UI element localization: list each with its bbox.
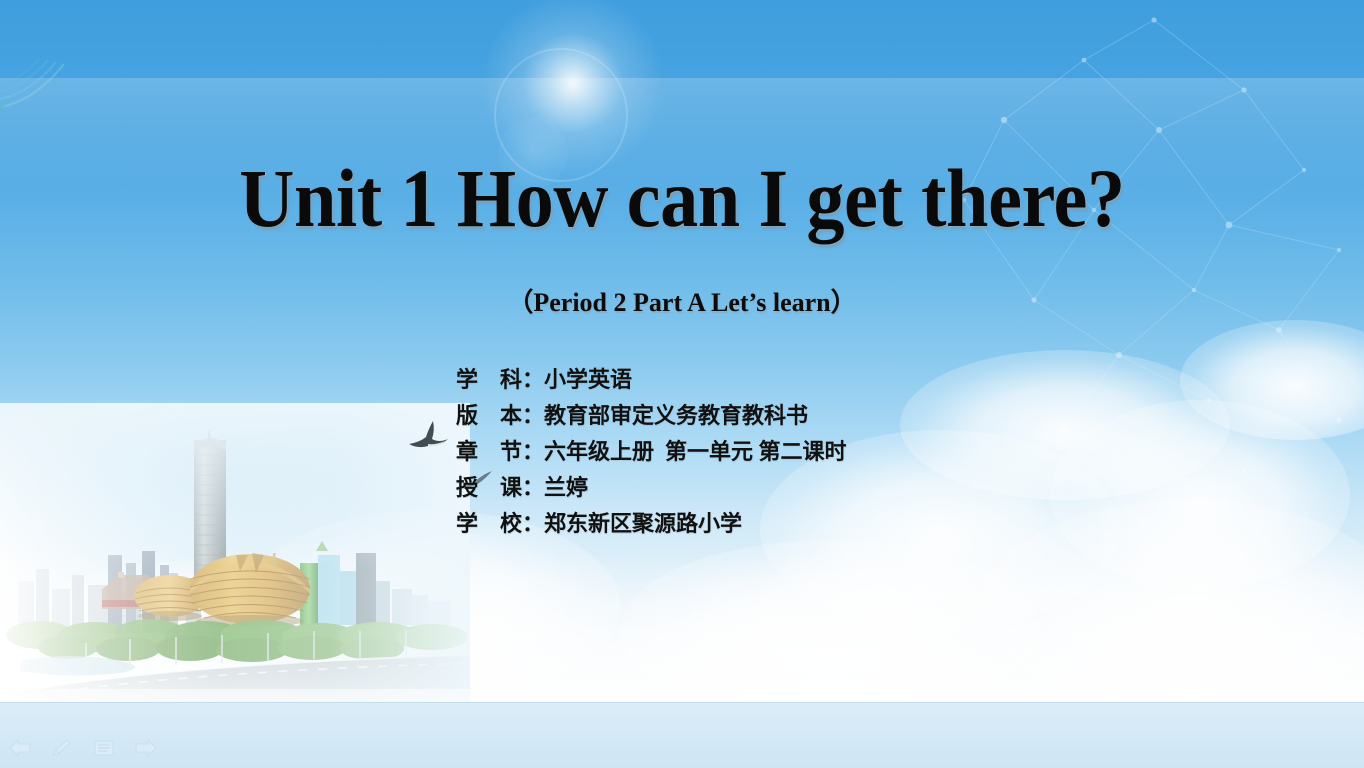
info-row-edition: 版 本：教育部审定义务教育教科书: [456, 398, 1016, 434]
page-title: Unit 1 How can I get there?: [55, 152, 1310, 244]
player-toolbar: [0, 702, 1364, 768]
info-row-chapter: 章 节：六年级上册 第一单元 第二课时: [456, 434, 1016, 470]
toolbar-icon-group: [6, 736, 160, 760]
lesson-info-block: 学 科：小学英语 版 本：教育部审定义务教育教科书 章 节：六年级上册 第一单元…: [456, 362, 1016, 542]
previous-slide-button[interactable]: [6, 736, 34, 760]
next-slide-button[interactable]: [132, 736, 160, 760]
info-row-subject: 学 科：小学英语: [456, 362, 1016, 398]
arrow-right-icon: [134, 738, 158, 758]
menu-icon: [92, 738, 116, 758]
seagull-icon: [404, 418, 452, 458]
menu-button[interactable]: [90, 736, 118, 760]
cityscape-illustration: [0, 403, 470, 703]
arrow-left-icon: [8, 738, 32, 758]
info-row-teacher: 授 课：兰婷: [456, 470, 1016, 506]
slide-canvas[interactable]: Unit 1 How can I get there? （Period 2 Pa…: [0, 0, 1364, 703]
page-subtitle: （Period 2 Part A Let’s learn）: [0, 286, 1364, 320]
corner-arc-decoration: [0, 42, 114, 112]
pen-tool-button[interactable]: [48, 736, 76, 760]
info-row-school: 学 校：郑东新区聚源路小学: [456, 506, 1016, 542]
presentation-viewer: Unit 1 How can I get there? （Period 2 Pa…: [0, 0, 1364, 768]
pen-icon: [50, 738, 74, 758]
